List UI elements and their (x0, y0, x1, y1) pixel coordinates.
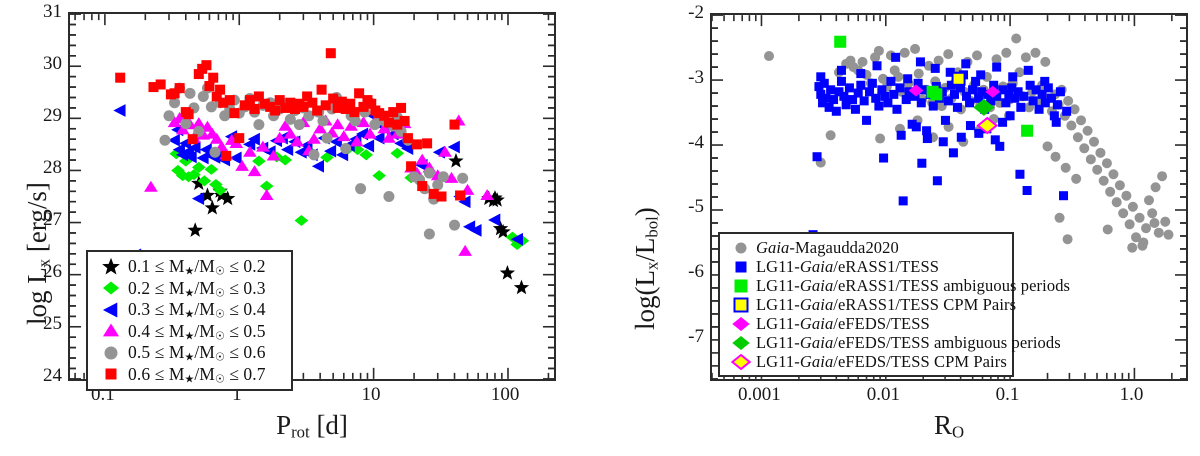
legend-item: 0.2 ≤ M★/M☉ ≤ 0.3 (94, 278, 284, 300)
utriangle-marker-icon (100, 321, 122, 341)
legend-right: Gaia-Magaudda2020LG11-Gaia/eRASS1/TESSLG… (718, 232, 1014, 377)
series-square (953, 73, 965, 85)
legend-item: 0.4 ≤ M★/M☉ ≤ 0.5 (94, 321, 284, 343)
y-axis-title-left: log Lx [erg/s] (22, 182, 55, 325)
y-tick-label: -4 (668, 132, 704, 154)
legend-label: 0.6 ≤ M★/M☉ ≤ 0.7 (128, 364, 266, 385)
legend-item: LG11-Gaia/eFEDS/TESS ambiguous periods (726, 333, 1005, 352)
y-tick-label: 29 (26, 105, 62, 127)
legend-marker (94, 278, 128, 298)
legend-label: LG11-Gaia/eRASS1/TESS CPM Pairs (756, 295, 1016, 315)
legend-marker (726, 257, 756, 277)
legend-marker (94, 257, 128, 277)
y-tick-label: -5 (668, 196, 704, 218)
y-tick-label: -2 (668, 2, 704, 24)
y-tick-label: -6 (668, 261, 704, 283)
legend-label: 0.1 ≤ M★/M☉ ≤ 0.2 (128, 256, 266, 277)
square-marker-icon (730, 276, 752, 296)
x-tick-label: 100 (491, 384, 520, 406)
legend-marker (726, 238, 756, 258)
legend-label: Gaia-Magaudda2020 (756, 238, 899, 258)
square-marker-icon (730, 257, 752, 277)
legend-marker (94, 343, 128, 363)
legend-marker (94, 364, 128, 384)
x-tick-label: 1.0 (1120, 384, 1144, 406)
ltriangle-marker-icon (100, 300, 122, 320)
x-axis-title-left: Prot [d] (276, 410, 348, 443)
legend-marker (94, 300, 128, 320)
legend-item: 0.3 ≤ M★/M☉ ≤ 0.4 (94, 299, 284, 321)
figure-root: 0.1110100 2425262728293031 Prot [d] log … (0, 0, 1200, 456)
legend-item: 0.1 ≤ M★/M☉ ≤ 0.2 (94, 256, 284, 278)
legend-item: 0.6 ≤ M★/M☉ ≤ 0.7 (94, 364, 284, 386)
legend-item: LG11-Gaia/eFEDS/TESS (726, 314, 1005, 333)
legend-marker (726, 333, 756, 353)
y-axis-title-right: log(Lx/Lbol) (630, 207, 663, 330)
square-marker-icon (730, 295, 752, 315)
diamond-marker-icon (100, 278, 122, 298)
x-tick-label: 0.01 (867, 384, 900, 406)
legend-item: LG11-Gaia/eRASS1/TESS CPM Pairs (726, 295, 1005, 314)
diamond-marker-icon (730, 352, 752, 372)
legend-item: 0.5 ≤ M★/M☉ ≤ 0.6 (94, 342, 284, 364)
legend-label: LG11-Gaia/eFEDS/TESS CPM Pairs (756, 352, 1007, 372)
circle-marker-icon (100, 343, 122, 363)
x-tick-label: 10 (361, 384, 380, 406)
legend-label: LG11-Gaia/eFEDS/TESS ambiguous periods (756, 333, 1061, 353)
legend-marker (726, 276, 756, 296)
panel-left-lx-vs-prot: 0.1110100 2425262728293031 Prot [d] log … (0, 0, 600, 456)
legend-label: 0.4 ≤ M★/M☉ ≤ 0.5 (128, 321, 266, 342)
circle-marker-icon (730, 238, 752, 258)
legend-item: LG11-Gaia/eFEDS/TESS CPM Pairs (726, 352, 1005, 371)
legend-label: 0.2 ≤ M★/M☉ ≤ 0.3 (128, 278, 266, 299)
legend-label: LG11-Gaia/eRASS1/TESS ambiguous periods (756, 276, 1070, 296)
y-tick-label: -3 (668, 67, 704, 89)
square-marker-icon (100, 364, 122, 384)
legend-item: LG11-Gaia/eRASS1/TESS ambiguous periods (726, 276, 1005, 295)
star-marker-icon (100, 257, 122, 277)
legend-left: 0.1 ≤ M★/M☉ ≤ 0.20.2 ≤ M★/M☉ ≤ 0.30.3 ≤ … (86, 250, 293, 391)
y-tick-label: 24 (26, 365, 62, 387)
diamond-marker-icon (730, 314, 752, 334)
y-tick-label: 28 (26, 157, 62, 179)
legend-marker (726, 314, 756, 334)
panel-right-lxlbol-vs-rossby: 0.0010.010.11.0 -2-3-4-5-6-7 RO log(Lx/L… (600, 0, 1200, 456)
y-tick-label: 30 (26, 53, 62, 75)
x-axis-title-right: RO (934, 410, 964, 443)
y-tick-label: 31 (26, 1, 62, 23)
diamond-marker-icon (730, 333, 752, 353)
y-tick-label: -7 (668, 326, 704, 348)
legend-marker (94, 321, 128, 341)
legend-item: LG11-Gaia/eRASS1/TESS (726, 257, 1005, 276)
legend-marker (726, 352, 756, 372)
legend-label: 0.3 ≤ M★/M☉ ≤ 0.4 (128, 299, 266, 320)
legend-marker (726, 295, 756, 315)
legend-label: LG11-Gaia/eFEDS/TESS (756, 314, 930, 334)
x-tick-label: 0.1 (996, 384, 1020, 406)
x-tick-label: 0.001 (738, 384, 781, 406)
legend-item: Gaia-Magaudda2020 (726, 238, 1005, 257)
legend-label: 0.5 ≤ M★/M☉ ≤ 0.6 (128, 342, 266, 363)
legend-label: LG11-Gaia/eRASS1/TESS (756, 257, 939, 277)
